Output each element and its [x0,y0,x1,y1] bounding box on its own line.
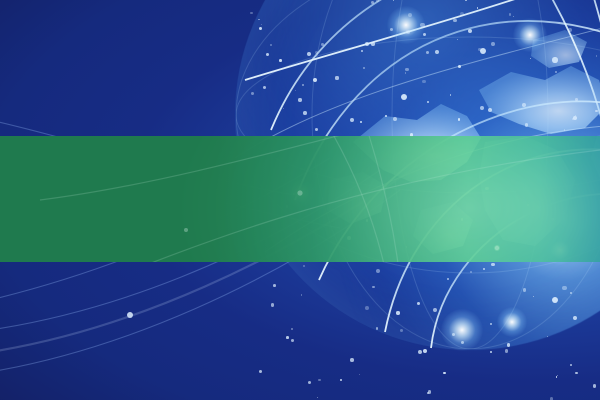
banner-image: 短线配资网 2025年12月30日全国主要批发市场 葡萄干(一级)价格行情 [0,0,600,400]
title-band: 短线配资网 2025年12月30日全国主要批发市场 葡萄干(一级)价格行情 [0,136,600,262]
band-globe-overlay [0,136,600,262]
